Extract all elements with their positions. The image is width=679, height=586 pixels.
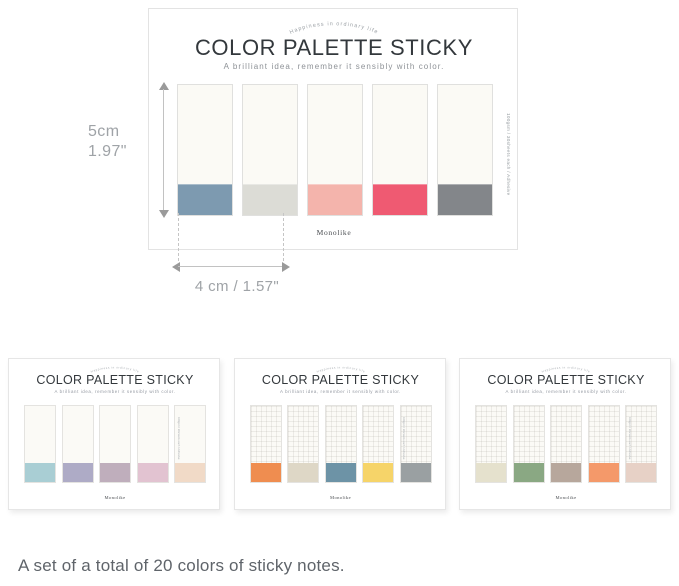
sticky-note [62,405,94,483]
sticky-note-color-tab [138,463,168,482]
dimension-line [178,266,284,267]
sticky-note-color-tab [373,184,427,215]
sticky-note-color-tab [326,463,356,482]
arrow-right-icon [282,262,290,272]
height-cm-value: 5cm [88,122,154,142]
sticky-note [325,405,357,483]
hero-paper-spec-label: 100gsm / 30sheets each / Adhesive [506,113,511,123]
variant-brand-label: Monolike [460,495,672,500]
variant-card-pastel: Happiness in ordinary life COLOR PALETTE… [8,358,220,510]
sticky-note [137,405,169,483]
hero-arc-tagline-text: Happiness in ordinary life [289,21,379,36]
sticky-note-color-tab [175,463,205,482]
sticky-note [24,405,56,483]
variant-paper-spec-label: 100gsm / 30sheets each / Adhesive [402,417,405,459]
sticky-note-color-tab [514,463,544,482]
sticky-note-color-tab [551,463,581,482]
sticky-note [588,405,620,483]
sticky-note [475,405,507,483]
hero-product-card: Happiness in ordinary life COLOR PALETTE… [148,8,518,250]
variant-subtitle: A brilliant idea, remember it sensibly w… [9,389,221,394]
sticky-note-color-tab [243,184,297,215]
height-dimension-label: 5cm 1.97" [88,122,154,162]
variant-subtitle: A brilliant idea, remember it sensibly w… [460,389,672,394]
dimension-line [163,89,164,211]
variant-card-earth: Happiness in ordinary life COLOR PALETTE… [459,358,671,510]
page-caption: A set of a total of 20 colors of sticky … [18,556,345,576]
sticky-note-color-tab [589,463,619,482]
color-variant-cards-row: Happiness in ordinary life COLOR PALETTE… [8,358,671,510]
sticky-note [250,405,282,483]
hero-title: COLOR PALETTE STICKY [149,35,519,61]
sticky-note [307,84,363,216]
svg-text:Happiness in ordinary life: Happiness in ordinary life [289,21,379,36]
hero-subtitle: A brilliant idea, remember it sensibly w… [149,62,519,71]
hero-sticky-notes-row [177,84,493,216]
variant-subtitle: A brilliant idea, remember it sensibly w… [235,389,447,394]
sticky-note-color-tab [251,463,281,482]
width-dimension-label: 4 cm / 1.57" [172,278,302,295]
width-guide-left [178,213,179,261]
sticky-note-color-tab [438,184,492,215]
variant-card-bright: Happiness in ordinary life COLOR PALETTE… [234,358,446,510]
sticky-note-color-tab [401,463,431,482]
height-inch-value: 1.97" [88,142,154,162]
sticky-note-color-tab [626,463,656,482]
variant-brand-label: Monolike [235,495,447,500]
sticky-note [372,84,428,216]
hero-brand-label: Monolike [149,228,519,237]
sticky-note [177,84,233,216]
variant-brand-label: Monolike [9,495,221,500]
sticky-note-color-tab [288,463,318,482]
sticky-note [287,405,319,483]
sticky-note [242,84,298,216]
variant-title: COLOR PALETTE STICKY [460,373,672,387]
sticky-note-color-tab [178,184,232,215]
variant-paper-spec-label: 100gsm / 30sheets each / Adhesive [628,417,631,459]
sticky-note [99,405,131,483]
arrow-down-icon [159,210,169,218]
sticky-note-color-tab [100,463,130,482]
sticky-note-color-tab [63,463,93,482]
sticky-note [513,405,545,483]
sticky-note-color-tab [476,463,506,482]
sticky-note-color-tab [363,463,393,482]
sticky-note [550,405,582,483]
sticky-note [437,84,493,216]
height-dimension-arrow [158,82,170,218]
variant-title: COLOR PALETTE STICKY [235,373,447,387]
variant-title: COLOR PALETTE STICKY [9,373,221,387]
sticky-note [362,405,394,483]
product-detail-page: Happiness in ordinary life COLOR PALETTE… [0,0,679,586]
sticky-note-color-tab [25,463,55,482]
variant-paper-spec-label: 100gsm / 30sheets each / Adhesive [177,417,180,459]
sticky-note-color-tab [308,184,362,215]
width-guide-right [283,213,284,261]
width-dimension-arrow [172,261,290,273]
